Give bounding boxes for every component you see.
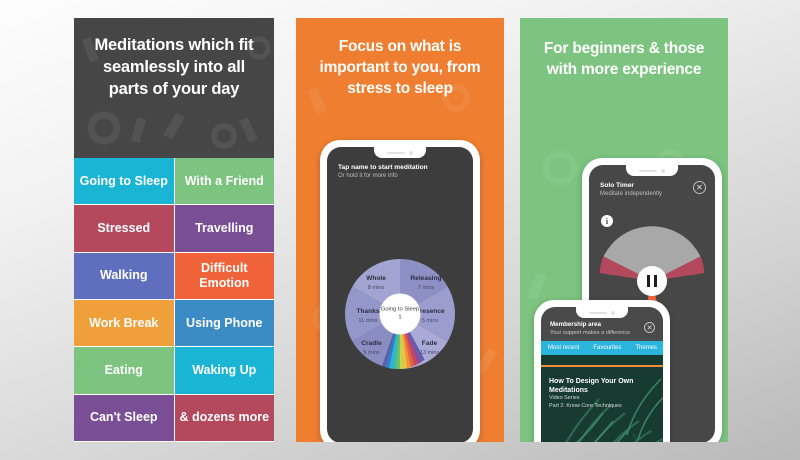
panel-experience: For beginners & those with more experien… (520, 18, 728, 442)
category-tile[interactable]: Difficult Emotion (175, 253, 275, 299)
card-accent-bar (541, 365, 663, 367)
solo-timer-title: Solo Timer (600, 181, 704, 190)
category-tile[interactable]: Travelling (175, 205, 275, 251)
category-tile[interactable]: Going to Sleep (74, 158, 174, 204)
pause-button[interactable] (637, 266, 667, 296)
card-subtitle: Video Series (549, 395, 637, 403)
category-tile[interactable]: Work Break (74, 300, 174, 346)
tab-themes[interactable]: Themes (635, 345, 657, 351)
wheel-label-fade: Fade 13 mins (407, 340, 452, 357)
meditation-header: Tap name to start meditation Or hold it … (338, 163, 462, 181)
wheel-label-whole: Whole 8 mins (351, 275, 401, 292)
category-tile[interactable]: Eating (74, 347, 174, 393)
meditation-wheel[interactable]: Releasing 7 mins Presence 5 mins Fade 13… (341, 255, 459, 373)
phone-screen: Tap name to start meditation Or hold it … (327, 147, 473, 442)
info-icon[interactable]: i (601, 215, 613, 227)
category-tile[interactable]: With a Friend (175, 158, 275, 204)
membership-content-card[interactable]: How To Design Your Own Meditations Video… (541, 355, 663, 442)
membership-title: Membership area (550, 321, 654, 329)
phone-notch (374, 147, 426, 158)
phone-mockup-meditation: Tap name to start meditation Or hold it … (320, 140, 480, 442)
tab-favourites[interactable]: Favourites (593, 345, 621, 351)
panel-categories: Meditations which fit seamlessly into al… (74, 18, 274, 442)
panel-headline: Focus on what is important to you, from … (296, 18, 504, 99)
membership-subtitle: Your support makes a difference (550, 329, 654, 337)
panel-headline: Meditations which fit seamlessly into al… (74, 18, 274, 100)
tab-most-recent[interactable]: Most recent (548, 345, 579, 351)
membership-tabs: Most recent Favourites Themes Stories (541, 341, 663, 355)
panel-headline: For beginners & those with more experien… (520, 18, 728, 80)
category-tile-grid: Going to Sleep With a Friend Stressed Tr… (74, 158, 274, 442)
phone-mockup-membership: Membership area Your support makes a dif… (534, 300, 670, 442)
category-tile[interactable]: Can't Sleep (74, 395, 174, 441)
meditation-header-title: Tap name to start meditation (338, 163, 462, 172)
solo-timer-subtitle: Meditate independently (600, 190, 704, 199)
phone-screen: Membership area Your support makes a dif… (541, 307, 663, 442)
close-icon[interactable]: ✕ (644, 322, 655, 333)
category-tile[interactable]: Using Phone (175, 300, 275, 346)
phone-notch (626, 165, 678, 176)
card-title: How To Design Your Own Meditations (549, 377, 637, 395)
wheel-label-releasing: Releasing 7 mins (401, 275, 451, 292)
card-text-block: How To Design Your Own Meditations Video… (549, 377, 637, 410)
screenshot-stage: Meditations which fit seamlessly into al… (0, 0, 800, 460)
card-meta: Part 2: Know Core Techniques (549, 403, 637, 411)
category-tile[interactable]: Stressed (74, 205, 174, 251)
close-icon[interactable]: ✕ (693, 181, 706, 194)
category-tile[interactable]: & dozens more (175, 395, 275, 441)
phone-notch (576, 307, 628, 318)
panel-focus: Focus on what is important to you, from … (296, 18, 504, 442)
membership-header: Membership area Your support makes a dif… (550, 321, 654, 337)
meditation-header-subtitle: Or hold it for more info (338, 172, 462, 181)
category-tile[interactable]: Walking (74, 253, 174, 299)
wheel-hub-label[interactable]: Going to Sleep 1 (380, 294, 421, 335)
solo-timer-header: Solo Timer Meditate independently (600, 181, 704, 199)
wheel-label-cradle: Cradle 5 mins (349, 340, 394, 357)
category-tile[interactable]: Waking Up (175, 347, 275, 393)
